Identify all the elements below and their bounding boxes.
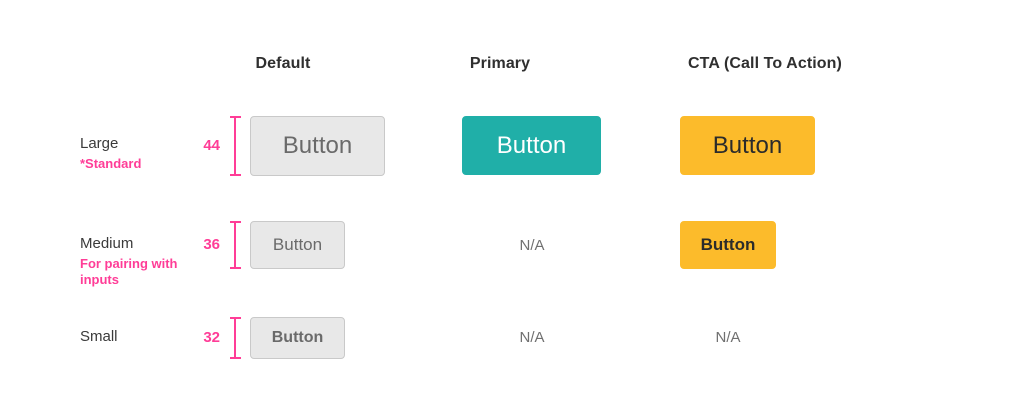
row-label-large-name: Large — [80, 134, 192, 154]
row-label-large: Large *Standard — [80, 134, 192, 172]
column-header-primary: Primary — [410, 55, 590, 73]
row-label-small-name: Small — [80, 327, 192, 347]
button-default-medium[interactable]: Button — [250, 221, 345, 269]
button-cta-large[interactable]: Button — [680, 116, 815, 175]
cell-cta-small-na: N/A — [698, 329, 758, 346]
bracket-bottom-cap-icon — [230, 267, 241, 269]
button-default-large[interactable]: Button — [250, 116, 385, 176]
bracket-stem-icon — [234, 221, 236, 269]
button-default-small[interactable]: Button — [250, 317, 345, 359]
bracket-bottom-cap-icon — [230, 357, 241, 359]
row-label-medium: Medium For pairing with inputs — [80, 234, 192, 288]
row-label-small: Small — [80, 327, 192, 349]
cell-primary-medium-na: N/A — [502, 237, 562, 254]
column-header-cta: CTA (Call To Action) — [645, 55, 885, 73]
button-primary-large[interactable]: Button — [462, 116, 601, 175]
bracket-stem-icon — [234, 317, 236, 359]
row-label-large-note: *Standard — [80, 156, 192, 172]
measurement-value-small: 32 — [186, 329, 220, 346]
bracket-stem-icon — [234, 116, 236, 176]
measurement-bracket-large — [230, 116, 241, 176]
column-header-default: Default — [193, 55, 373, 73]
row-label-medium-note: For pairing with inputs — [80, 256, 192, 288]
bracket-bottom-cap-icon — [230, 174, 241, 176]
row-label-medium-name: Medium — [80, 234, 192, 254]
button-cta-medium[interactable]: Button — [680, 221, 776, 269]
measurement-value-large: 44 — [186, 137, 220, 154]
measurement-value-medium: 36 — [186, 236, 220, 253]
measurement-bracket-small — [230, 317, 241, 359]
measurement-bracket-medium — [230, 221, 241, 269]
cell-primary-small-na: N/A — [502, 329, 562, 346]
button-spec-sheet: Default Primary CTA (Call To Action) Lar… — [0, 0, 1024, 412]
